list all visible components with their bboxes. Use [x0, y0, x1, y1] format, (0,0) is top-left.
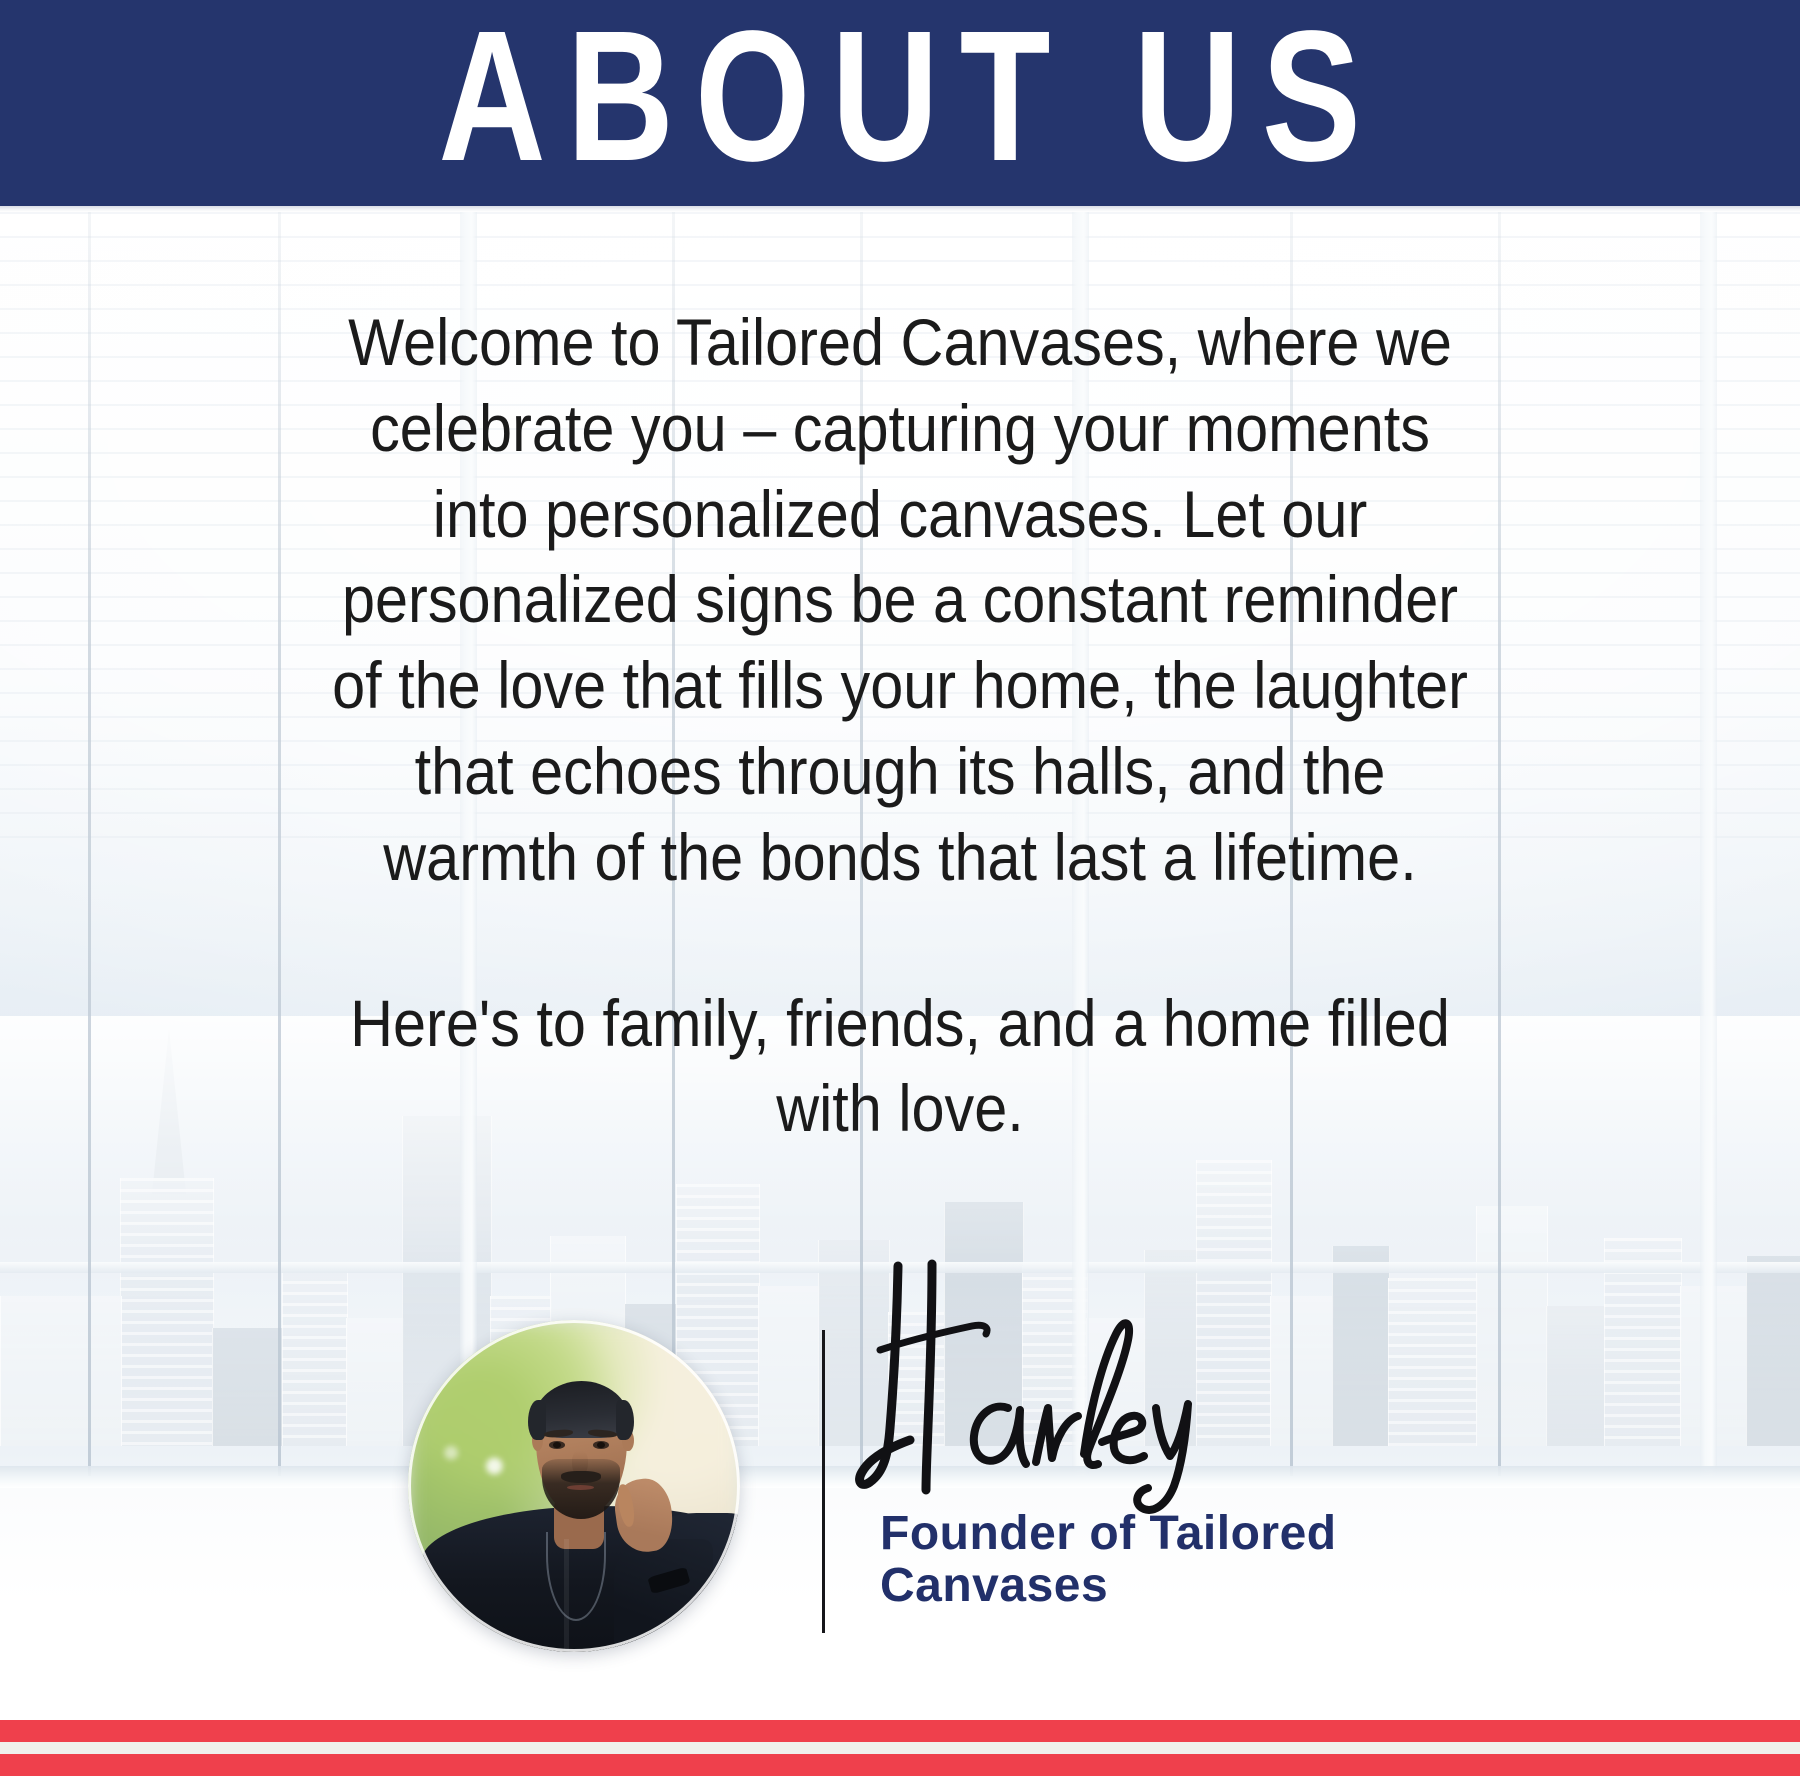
page-title: ABOUT US	[418, 4, 1382, 190]
founder-role-line-1: Founder of Tailored	[880, 1508, 1480, 1560]
copy-line: warmth of the bonds that last a lifetime…	[302, 815, 1499, 901]
copy-line: of the love that fills your home, the la…	[302, 643, 1499, 729]
avatar	[408, 1320, 740, 1652]
window-mullion-wide	[1700, 212, 1717, 1476]
hair-side-right	[616, 1400, 634, 1440]
footer-stripe-gap	[0, 1742, 1800, 1754]
window-sill	[0, 1466, 1800, 1488]
footer-stripe-top	[0, 1720, 1800, 1742]
signature-divider	[822, 1330, 825, 1633]
copy-line: celebrate you – capturing your moments	[302, 386, 1499, 472]
copy-line: into personalized canvases. Let our	[302, 472, 1499, 558]
copy-line: that echoes through its halls, and the	[302, 729, 1499, 815]
footer-stripe-bottom	[0, 1754, 1800, 1776]
window-transom	[0, 1262, 1800, 1273]
header-underline	[0, 206, 1800, 212]
paragraph-1: Welcome to Tailored Canvases, where we c…	[235, 300, 1565, 901]
copy-line: Here's to family, friends, and a home fi…	[302, 981, 1499, 1067]
about-us-body-copy: Welcome to Tailored Canvases, where we c…	[235, 300, 1565, 1152]
paragraph-2: Here's to family, friends, and a home fi…	[235, 981, 1565, 1153]
copy-line: personalized signs be a constant reminde…	[302, 557, 1499, 643]
founder-role: Founder of Tailored Canvases	[880, 1508, 1480, 1612]
paragraph-spacer	[235, 901, 1565, 981]
window-mullion	[88, 212, 91, 1476]
founder-role-line-2: Canvases	[880, 1560, 1480, 1612]
about-us-poster: ABOUT US Welcome to Tailored Canvases, w…	[0, 0, 1800, 1776]
avatar-photo	[408, 1320, 740, 1652]
forearm	[614, 1539, 714, 1652]
copy-line: with love.	[302, 1066, 1499, 1152]
mouth	[567, 1485, 594, 1490]
header-band: ABOUT US	[0, 0, 1800, 206]
pupil-right	[597, 1442, 604, 1449]
copy-line: Welcome to Tailored Canvases, where we	[302, 300, 1499, 386]
moustache	[561, 1471, 601, 1482]
pupil-left	[553, 1442, 560, 1449]
